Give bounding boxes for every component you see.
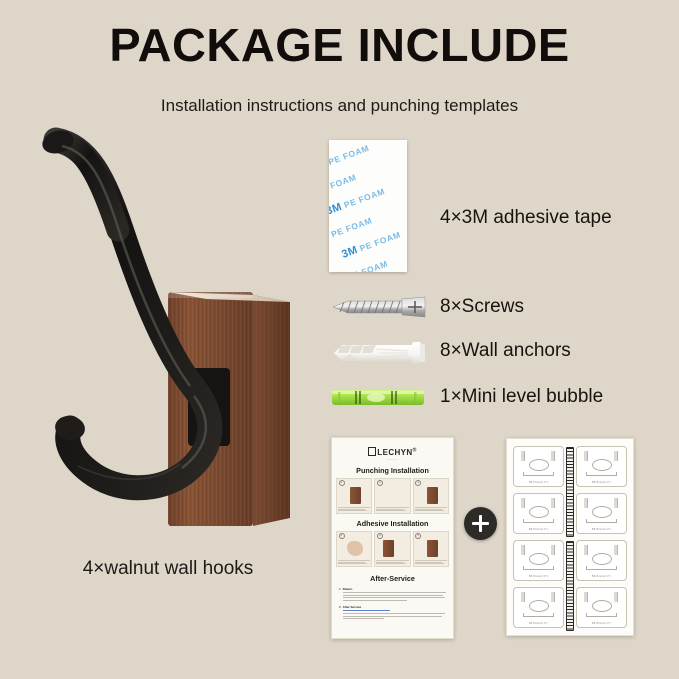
walnut-wall-hook-image [18,120,318,540]
template-label: 58.8mm(2.3") [514,621,563,625]
template-cell: 58.8mm(2.3") [576,493,627,534]
adhesive-installation-heading: Adhesive Installation [332,519,453,528]
hook-outline [592,600,612,612]
after-service-item: 1 Return [339,587,446,602]
item-title: Return [343,587,446,591]
screw-mark-icon [584,545,589,555]
instruction-panel: 6 [413,531,449,567]
instruction-panel: 3 [413,478,449,514]
screw-mark-icon [521,451,526,461]
screw-mark-icon [551,592,556,602]
panel-art [379,485,405,506]
screw-mark-icon [584,498,589,508]
screw-mark-icon [551,545,556,555]
wall-anchor-image [330,340,430,366]
ruler-strip [566,447,574,537]
instruction-panel: 1 [336,478,372,514]
hand-icon [347,541,363,556]
screw-mark-icon [551,451,556,461]
screw-mark-icon [614,498,619,508]
dimension-line [586,613,617,617]
product-caption: 4×walnut wall hooks [18,558,318,580]
after-service-item: 2 After Service [339,605,446,620]
dimension-line [523,566,554,570]
hook-outline [529,553,549,565]
panel-caption [338,560,370,566]
instruction-panel: 4 [336,531,372,567]
screws-label: 8×Screws [440,296,524,318]
panel-art [341,485,367,506]
ruler-strip [566,541,574,631]
hook-outline [592,459,612,471]
adhesive-tape-image: 3MPE FOAM 3MPE FOAM 3MPE FOAM 3MPE FOAM … [329,140,407,272]
item-text: After Service [343,605,446,620]
email-link[interactable] [343,610,391,611]
item-title: After Service [343,605,446,609]
level-bubble-image [330,386,426,408]
screw-mark-icon [584,592,589,602]
dimension-line [586,519,617,523]
plus-badge-icon [464,507,497,540]
panel-caption [338,507,370,513]
template-cell: 58.8mm(2.3") [513,493,564,534]
after-service-body: 1 Return 2 After Service [332,587,453,621]
screw-mark-icon [521,498,526,508]
template-cell: 58.8mm(2.3") [576,587,627,628]
item-number: 2 [339,605,341,620]
dimension-line [586,566,617,570]
brand-mark-icon [368,447,376,456]
template-label: 58.8mm(2.3") [577,527,626,531]
screw-mark-icon [521,592,526,602]
punching-template-card: 58.8mm(2.3") 58.8mm(2.3") 58.8mm(2.3") [506,438,634,636]
wood-chip-icon [350,487,361,504]
wood-chip-icon [427,540,438,557]
brand-name: LECHYN [377,448,412,457]
punching-installation-heading: Punching Installation [332,466,453,475]
package-include-infographic: PACKAGE INCLUDE Installation instruction… [0,0,679,679]
dimension-line [586,472,617,476]
tape-pattern: 3MPE FOAM 3MPE FOAM 3MPE FOAM 3MPE FOAM … [329,140,407,272]
template-cell: 58.8mm(2.3") [576,540,627,581]
template-label: 58.8mm(2.3") [514,480,563,484]
template-label: 58.8mm(2.3") [577,621,626,625]
panel-caption [415,560,447,566]
hook-outline [529,459,549,471]
after-service-heading: After-Service [332,574,453,583]
screw-mark-icon [614,592,619,602]
panel-art [418,538,444,559]
hook-outline [592,553,612,565]
item-number: 1 [339,587,341,602]
template-label: 58.8mm(2.3") [577,480,626,484]
template-label: 58.8mm(2.3") [514,527,563,531]
panel-art [379,538,405,559]
screw-image [330,296,428,318]
template-cell: 58.8mm(2.3") [576,446,627,487]
screw-mark-icon [521,545,526,555]
panel-caption [376,560,408,566]
template-cell: 58.8mm(2.3") [513,540,564,581]
instruction-panel: 5 [374,531,410,567]
dimension-line [523,613,554,617]
panel-art [341,538,367,559]
item-text: Return [343,587,446,602]
registered-icon: ® [413,447,417,453]
template-cell: 58.8mm(2.3") [513,446,564,487]
wall-anchors-label: 8×Wall anchors [440,340,571,362]
dimension-line [523,519,554,523]
screw-mark-icon [584,451,589,461]
screw-mark-icon [614,545,619,555]
template-cell: 58.8mm(2.3") [513,587,564,628]
adhesive-tape-label: 4×3M adhesive tape [440,207,612,229]
level-bubble-label: 1×Mini level bubble [440,386,603,408]
wood-chip-icon [427,487,438,504]
screw-mark-icon [551,498,556,508]
hook-outline [529,600,549,612]
panel-caption [376,507,408,513]
wood-chip-icon [383,540,394,557]
panel-art [418,485,444,506]
template-grid: 58.8mm(2.3") 58.8mm(2.3") 58.8mm(2.3") [513,446,627,628]
instruction-sheet: LECHYN® ——— Punching Installation 1 2 3 [331,437,454,639]
page-subtitle: Installation instructions and punching t… [0,96,679,116]
hook-outline [529,506,549,518]
brand-tagline: ——— [332,457,453,461]
screw-mark-icon [614,451,619,461]
panel-caption [415,507,447,513]
hook-outline [592,506,612,518]
template-label: 58.8mm(2.3") [514,574,563,578]
template-label: 58.8mm(2.3") [577,574,626,578]
brand-logo: LECHYN® [332,447,453,457]
adhesive-panels: 4 5 6 [332,531,453,567]
instruction-panel: 2 [374,478,410,514]
dimension-line [523,472,554,476]
page-title: PACKAGE INCLUDE [0,22,679,68]
punching-panels: 1 2 3 [332,478,453,514]
